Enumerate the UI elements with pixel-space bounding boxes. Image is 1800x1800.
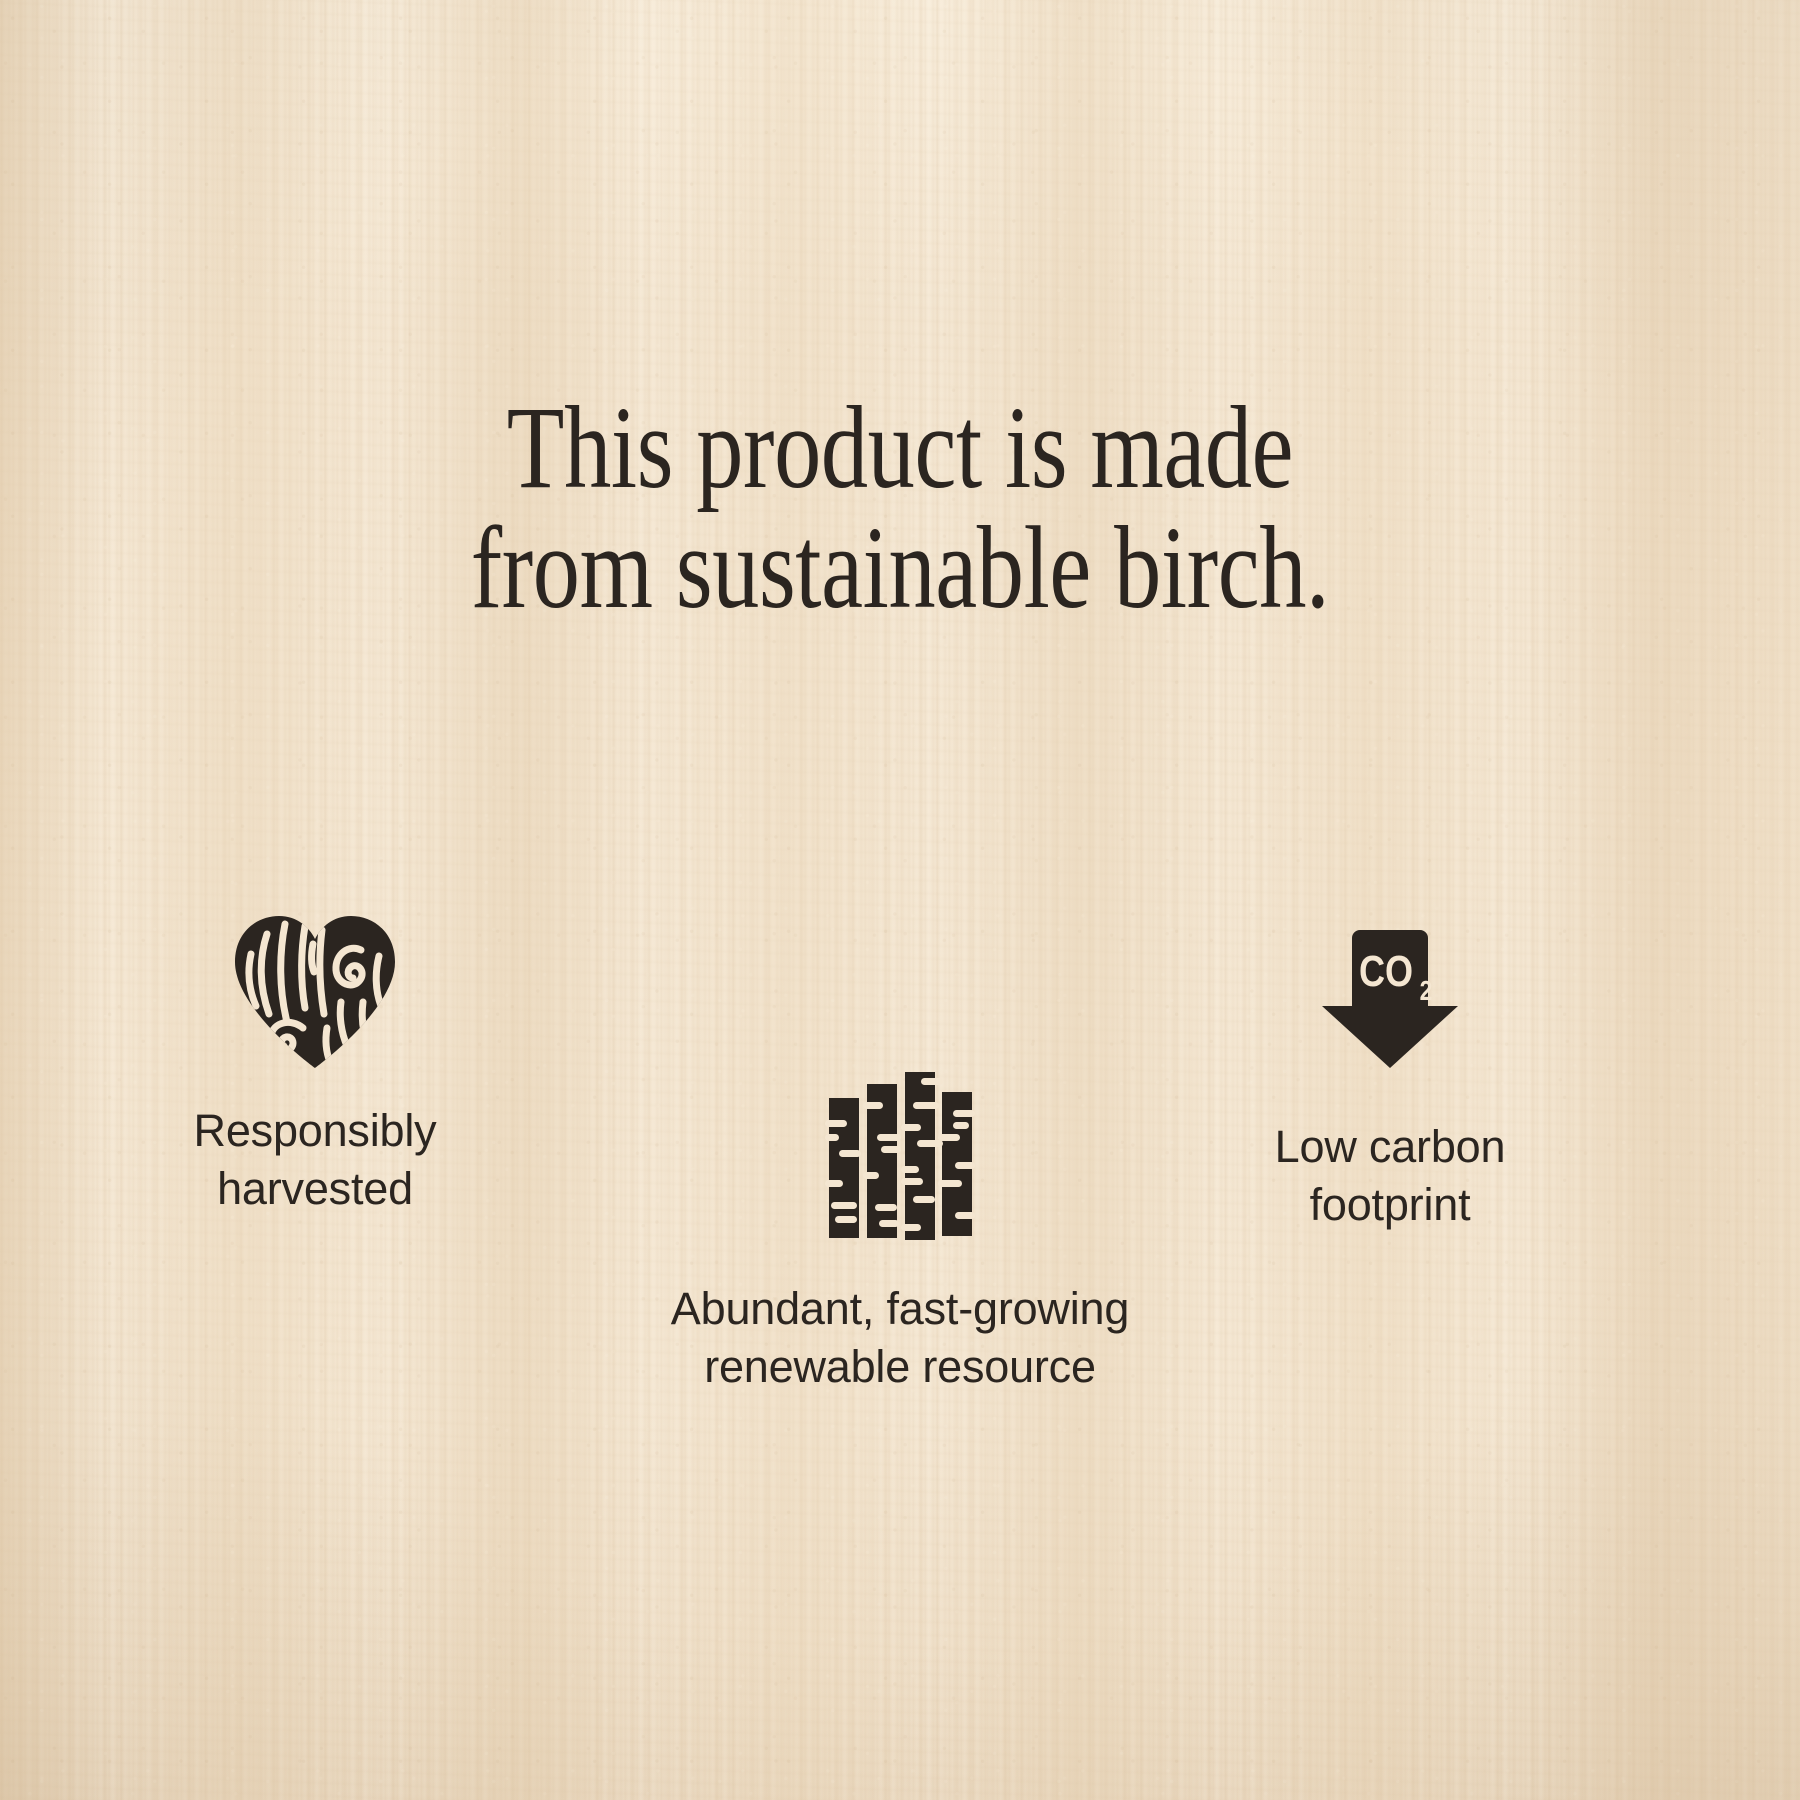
feature-caption: Abundant, fast-growing renewable resourc… bbox=[565, 1280, 1235, 1395]
feature-low-carbon-footprint: CO 2 Low carbon footprint bbox=[1150, 920, 1630, 1233]
feature-caption: Responsibly harvested bbox=[90, 1102, 540, 1217]
co2-subscript: 2 bbox=[1420, 976, 1433, 1007]
co2-label: CO bbox=[1359, 947, 1413, 996]
feature-renewable-resource: Abundant, fast-growing renewable resourc… bbox=[565, 1070, 1235, 1395]
headline: This product is made from sustainable bi… bbox=[180, 388, 1620, 629]
birch-trees-icon bbox=[565, 1070, 1235, 1240]
panel-content: This product is made from sustainable bi… bbox=[0, 0, 1800, 1800]
wood-grain-heart-icon bbox=[90, 895, 540, 1070]
co2-down-arrow-icon: CO 2 bbox=[1150, 920, 1630, 1070]
birch-wood-panel: This product is made from sustainable bi… bbox=[0, 0, 1800, 1800]
feature-caption: Low carbon footprint bbox=[1150, 1118, 1630, 1233]
feature-responsibly-harvested: Responsibly harvested bbox=[90, 895, 540, 1217]
